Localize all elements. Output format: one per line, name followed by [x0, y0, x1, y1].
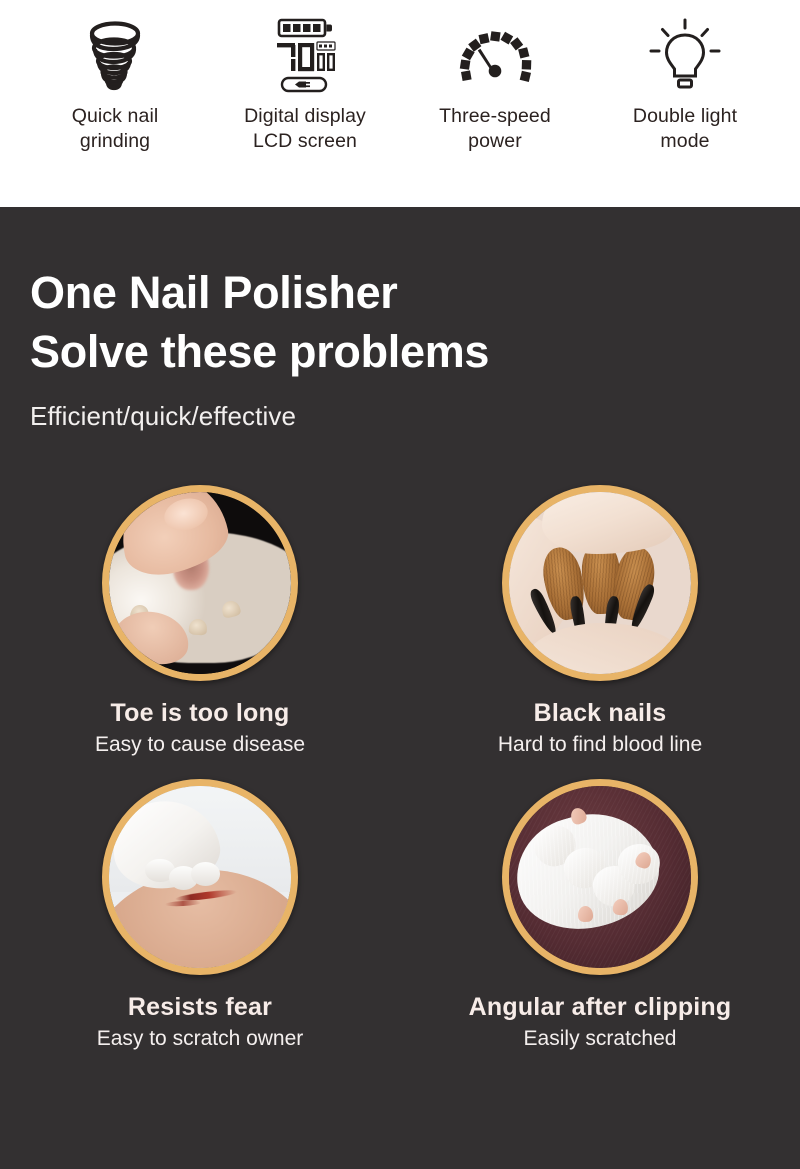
problem-subtitle: Easy to scratch owner: [97, 1027, 304, 1051]
product-infographic-page: Quick nail grinding: [0, 0, 800, 1169]
problem-card-toe-too-long: Toe is too long Easy to cause disease: [0, 485, 400, 757]
feature-double-light-mode: Double light mode: [590, 14, 780, 154]
lcd-display-icon: [210, 14, 400, 96]
photo-white-dog-paw-overgrown-nail: [109, 492, 291, 674]
headline-line-2: Solve these problems: [30, 322, 489, 381]
problem-photo-frame: [102, 485, 298, 681]
subheadline: Efficient/quick/effective: [30, 401, 296, 432]
feature-label: Quick nail grinding: [72, 104, 159, 154]
speedometer-icon: [400, 14, 590, 96]
feature-label-line2: grinding: [80, 130, 150, 152]
feature-label-line1: Double light: [633, 105, 737, 127]
problem-title: Toe is too long: [111, 699, 290, 728]
feature-digital-display: Digital display LCD screen: [210, 14, 400, 154]
photo-white-paw-on-maroon-surface: [509, 786, 691, 968]
photo-brown-paw-black-nails-gloved-hands: [509, 492, 691, 674]
problem-photo-frame: [102, 779, 298, 975]
problem-card-black-nails: Black nails Hard to find blood line: [400, 485, 800, 757]
problem-subtitle: Easy to cause disease: [95, 733, 305, 757]
photo-white-cat-paw-scratched-arm: [109, 786, 291, 968]
feature-three-speed-power: Three-speed power: [400, 14, 590, 154]
feature-quick-nail-grinding: Quick nail grinding: [20, 14, 210, 154]
problem-title: Resists fear: [128, 993, 272, 1022]
problem-photo-frame: [502, 485, 698, 681]
feature-label-line2: power: [468, 130, 522, 152]
page-title: One Nail Polisher Solve these problems: [30, 263, 489, 381]
feature-label-line1: Quick nail: [72, 105, 159, 127]
problem-title: Angular after clipping: [469, 993, 732, 1022]
lightbulb-icon: [590, 14, 780, 96]
feature-label-line2: mode: [660, 130, 709, 152]
feature-label: Three-speed power: [439, 104, 551, 154]
problem-card-resists-fear: Resists fear Easy to scratch owner: [0, 779, 400, 1051]
problem-grid: Toe is too long Easy to cause disease: [0, 485, 800, 1051]
problem-card-angular-after-clipping: Angular after clipping Easily scratched: [400, 779, 800, 1051]
feature-bar: Quick nail grinding: [0, 0, 800, 207]
feature-label-line2: LCD screen: [253, 130, 357, 152]
feature-label: Digital display LCD screen: [244, 104, 366, 154]
tornado-grinder-icon: [20, 14, 210, 96]
problems-section: One Nail Polisher Solve these problems E…: [0, 207, 800, 1169]
headline-line-1: One Nail Polisher: [30, 267, 398, 318]
feature-label: Double light mode: [633, 104, 737, 154]
problem-photo-frame: [502, 779, 698, 975]
problem-title: Black nails: [534, 699, 667, 728]
problem-subtitle: Easily scratched: [524, 1027, 677, 1051]
feature-label-line1: Digital display: [244, 105, 366, 127]
problem-subtitle: Hard to find blood line: [498, 733, 702, 757]
feature-label-line1: Three-speed: [439, 105, 551, 127]
